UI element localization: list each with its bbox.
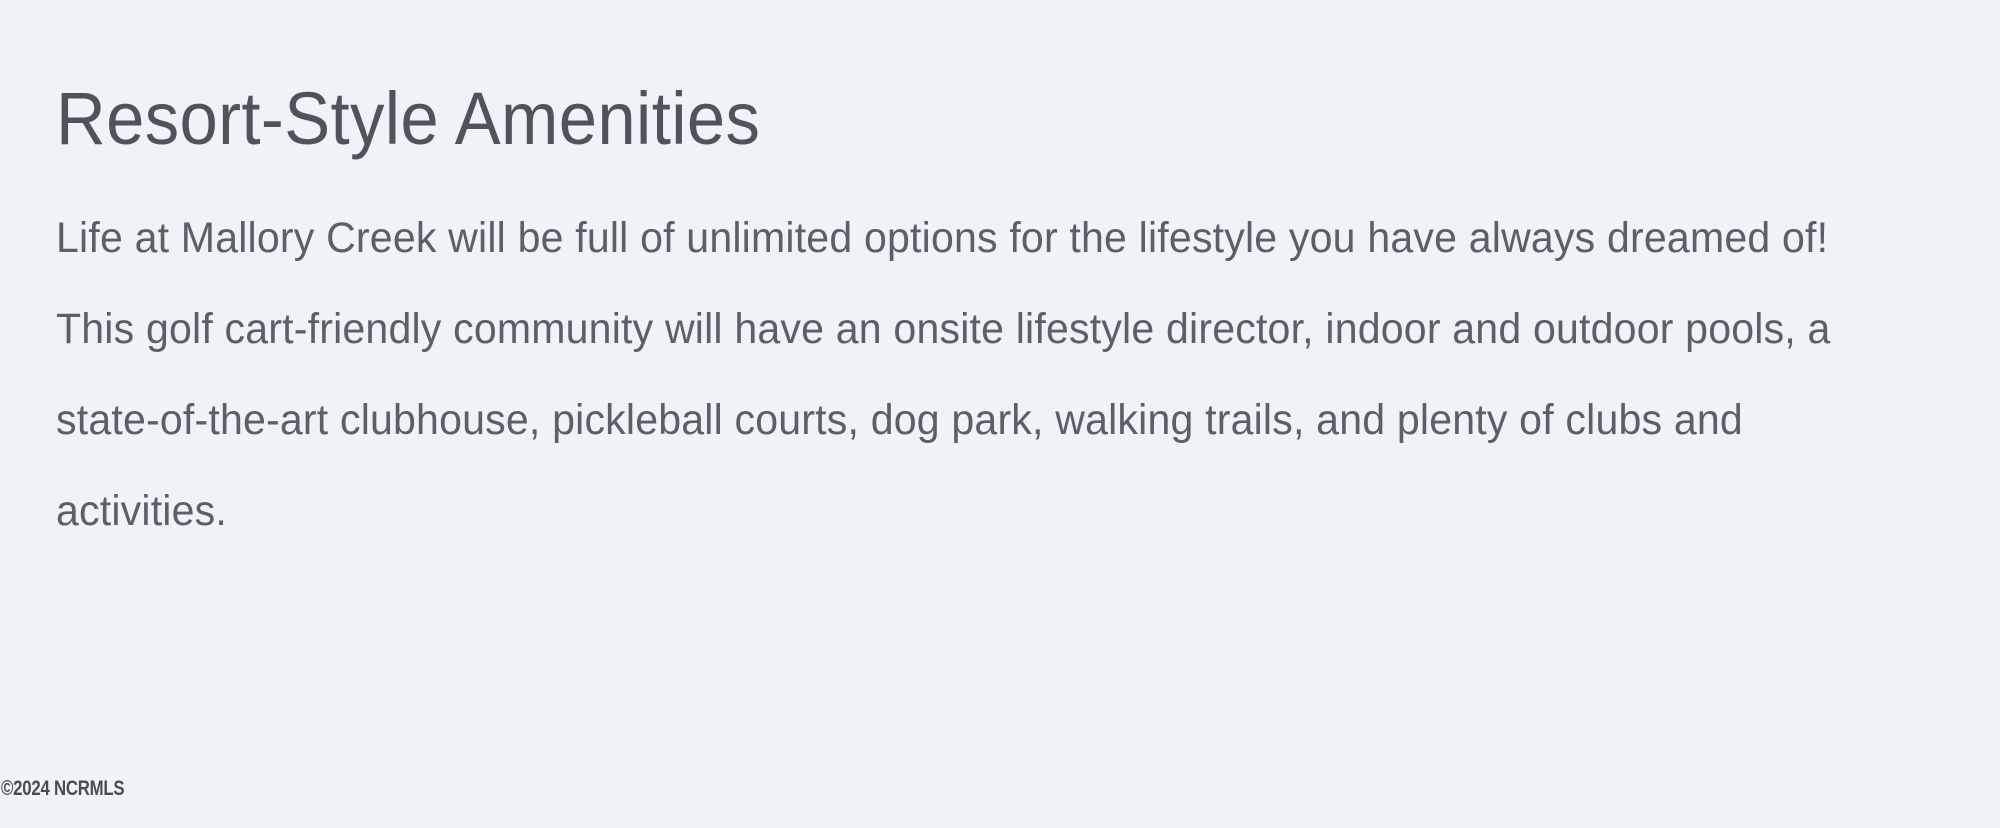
mls-copyright-watermark: ©2024 NCRMLS [1,777,124,801]
page-title: Resort-Style Amenities [56,78,760,159]
amenities-section-panel: Resort-Style Amenities Life at Mallory C… [0,0,2000,828]
amenities-description-text: Life at Mallory Creek will be full of un… [56,193,1871,557]
